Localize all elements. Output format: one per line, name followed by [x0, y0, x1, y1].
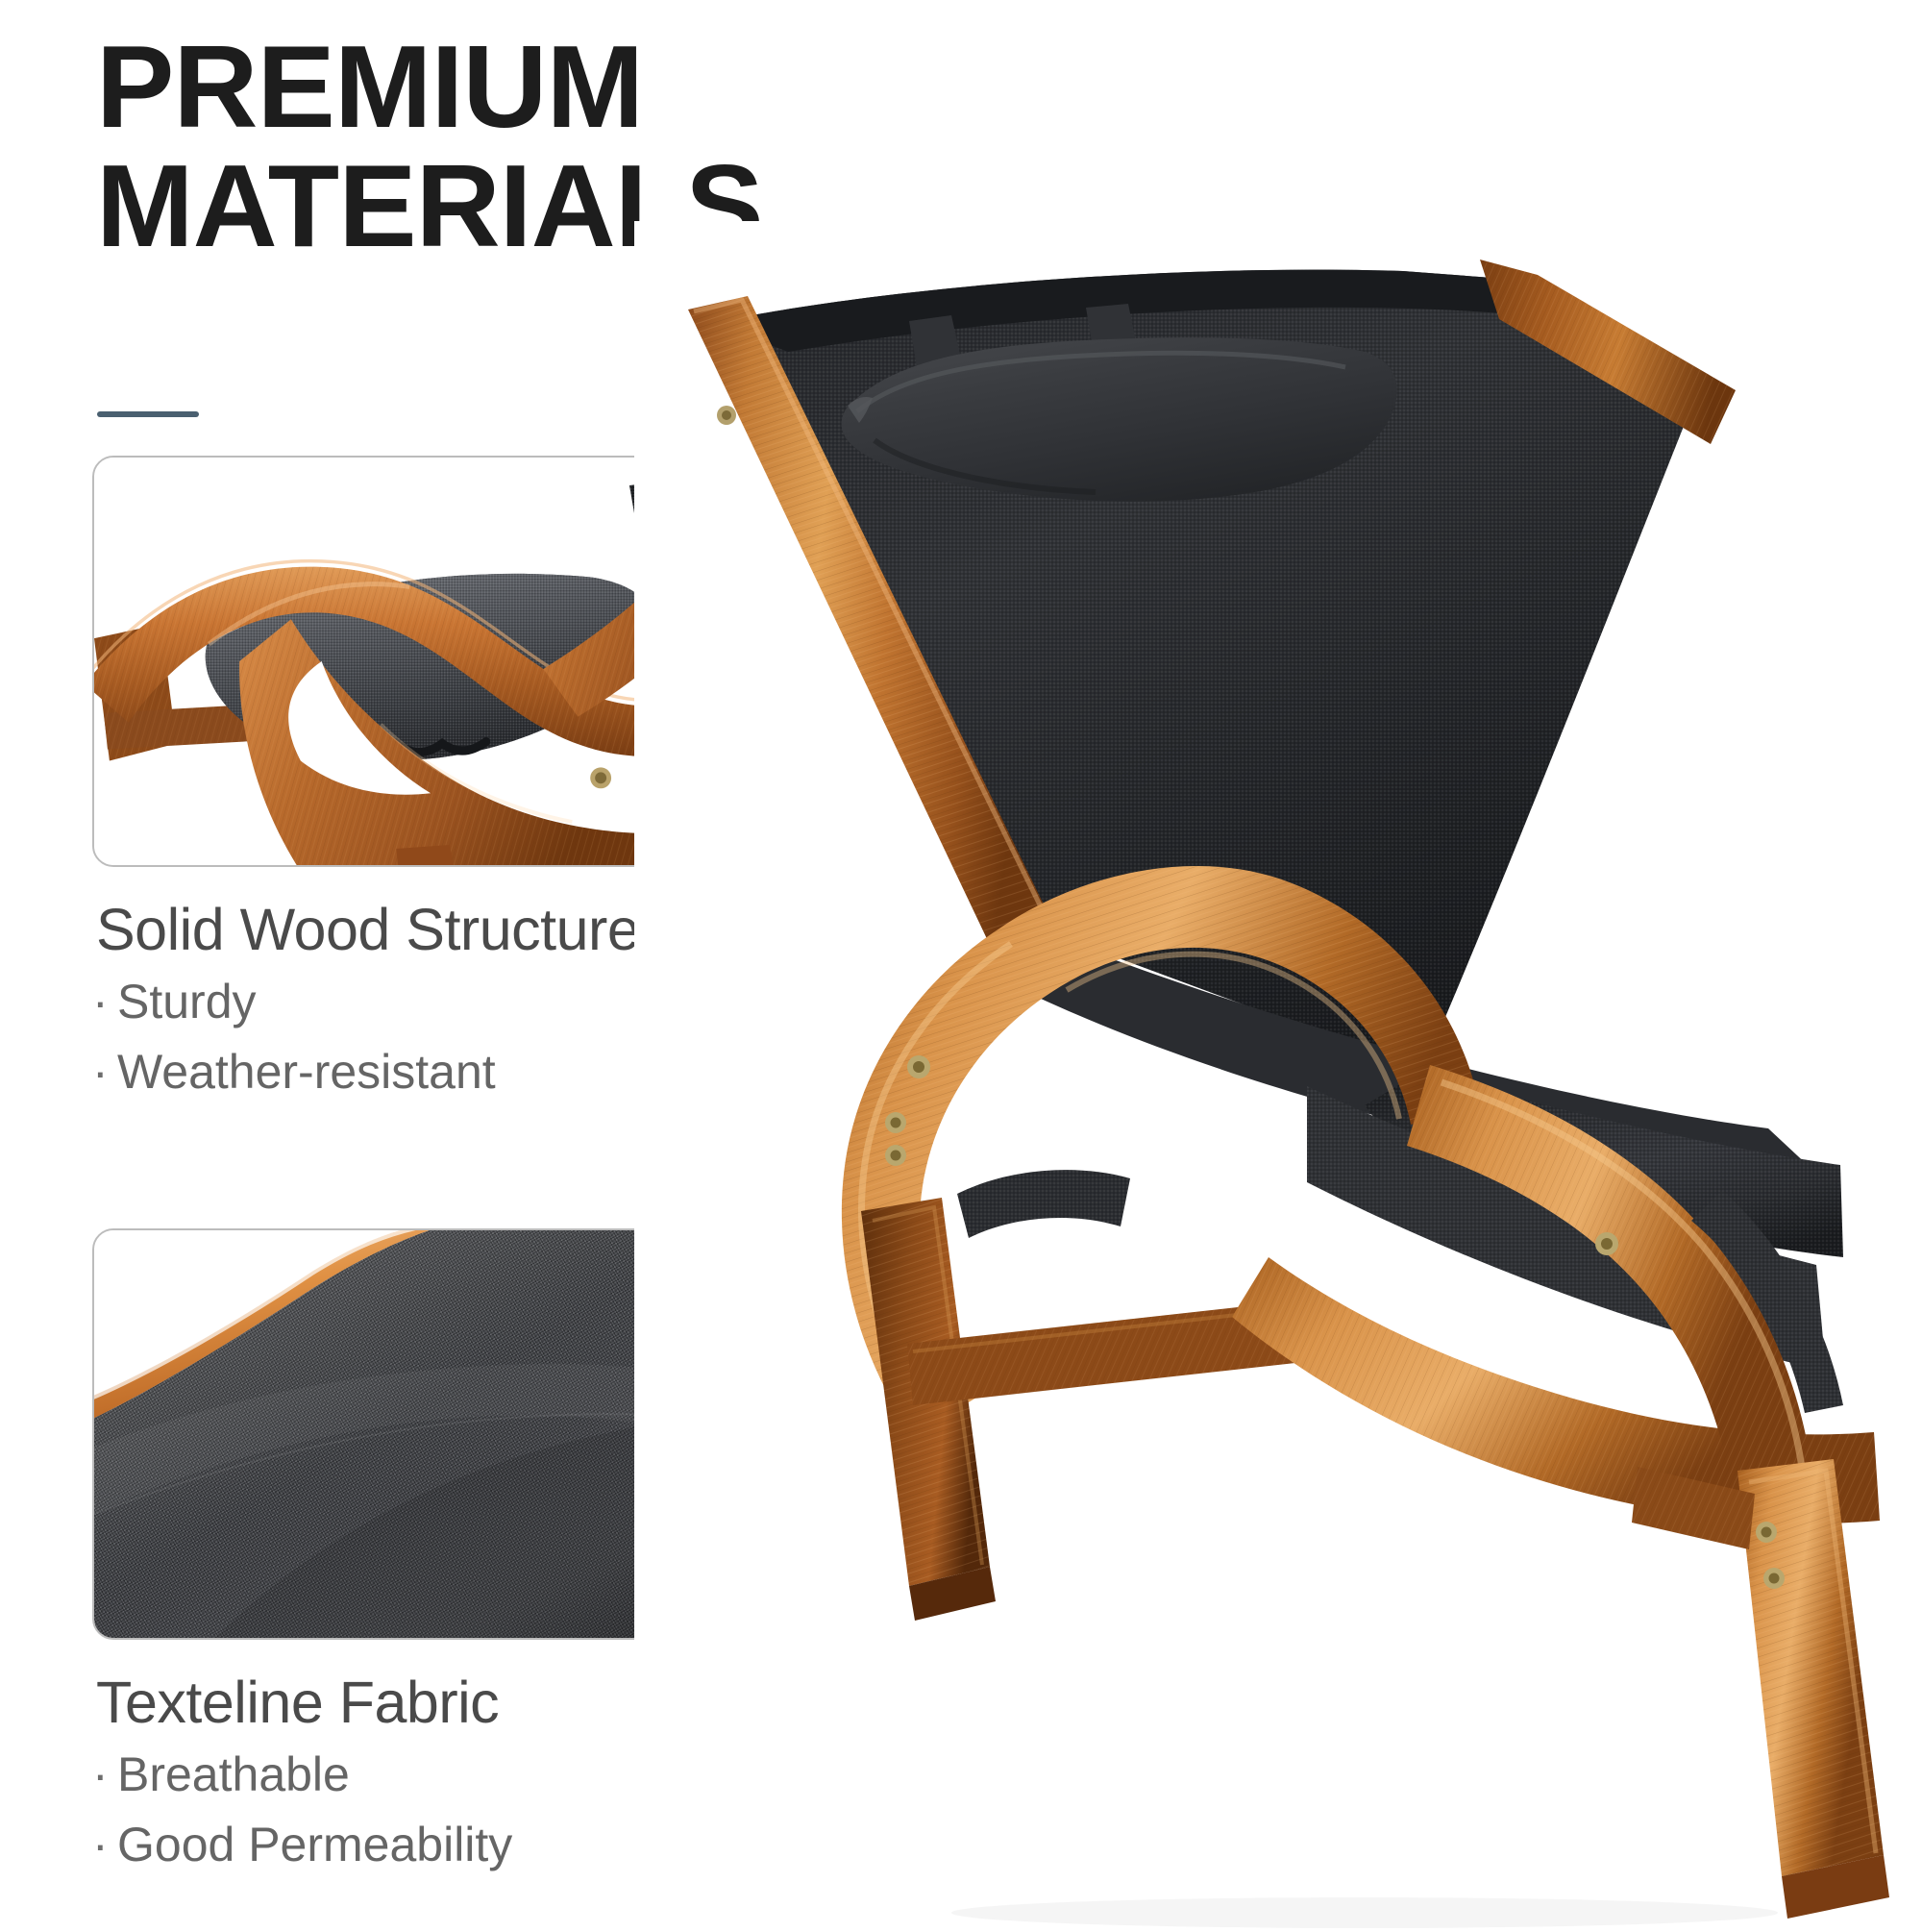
bullet-text: Good Permeability [117, 1818, 512, 1871]
bullet-marker-icon: · [92, 1037, 117, 1107]
bullet-marker-icon: · [92, 967, 117, 1037]
hero-product-image [634, 221, 1922, 1932]
lounge-chair-photo [634, 221, 1922, 1932]
title-line-1: PREMIUM [96, 27, 1057, 146]
bullet-text: Weather-resistant [117, 1045, 496, 1099]
bullet-marker-icon: · [92, 1810, 117, 1880]
title-divider [97, 411, 199, 417]
bullet-text: Sturdy [117, 975, 257, 1028]
bullet-marker-icon: · [92, 1740, 117, 1810]
bullet-text: Breathable [117, 1747, 350, 1801]
product-feature-page: PREMIUM MATERIALS [0, 0, 1922, 1922]
